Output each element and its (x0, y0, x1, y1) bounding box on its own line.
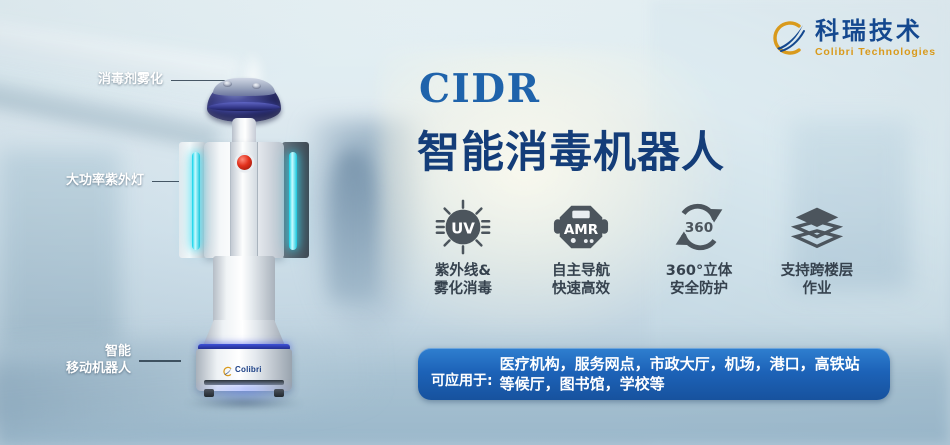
application-banner-line2: 等候厅，图书馆，学校等 (500, 374, 860, 394)
feature-item-multifloor: 支持跨楼层 作业 (758, 196, 876, 299)
feature-label-360-line1: 360°立体 (666, 263, 733, 281)
amr-robot-octagon-icon: AMR (552, 196, 610, 258)
robot-atomizer-nozzle (223, 81, 232, 87)
annotation-1-line1: 消毒剂雾化 (98, 72, 163, 89)
feature-list: UV 紫外线& 雾化消毒 AMR 自主导航 快速高效 (404, 196, 924, 299)
stacked-layers-icon (788, 196, 846, 258)
brand-logo: 科瑞技术 Colibri Technologies (768, 18, 936, 58)
feature-label-multifloor: 支持跨楼层 作业 (781, 263, 854, 299)
robot-emergency-stop-button[interactable] (237, 155, 252, 170)
application-banner-label: 可应用于: (431, 370, 493, 390)
feature-label-uv-line2: 雾化消毒 (434, 281, 492, 299)
feature-label-360-line2: 安全防护 (666, 281, 733, 299)
robot-head-light-band (208, 102, 280, 111)
feature-label-multifloor-line2: 作业 (781, 281, 854, 299)
annotation-smart-mobile-robot: 智能 移动机器人 (66, 344, 181, 378)
feature-item-360: 360 360°立体 安全防护 (640, 196, 758, 299)
annotation-2-text: 大功率紫外灯 (66, 173, 144, 190)
feature-label-uv: 紫外线& 雾化消毒 (434, 263, 492, 299)
feature-label-amr-line2: 快速高效 (552, 281, 610, 299)
360-rotation-arrows-icon: 360 (670, 196, 728, 258)
annotation-3-line2: 移动机器人 (66, 361, 131, 378)
robot-base-brand-text: Colibri (235, 365, 262, 374)
annotation-1-text: 消毒剂雾化 (98, 72, 163, 89)
colibri-c-swoosh-logo-icon (222, 364, 233, 375)
annotation-3-line1: 智能 (66, 344, 131, 361)
feature-label-amr: 自主导航 快速高效 (552, 263, 610, 299)
uv-icon-text: UV (451, 219, 475, 237)
feature-label-amr-line1: 自主导航 (552, 263, 610, 281)
disinfection-robot-image: Colibri (180, 78, 308, 408)
robot-floor-shadow (184, 396, 304, 410)
brand-logo-text: 科瑞技术 Colibri Technologies (815, 19, 936, 58)
brand-name-en: Colibri Technologies (815, 47, 936, 58)
feature-label-multifloor-line1: 支持跨楼层 (781, 263, 854, 281)
feature-label-360: 360°立体 安全防护 (666, 263, 733, 299)
application-banner-line1: 医疗机构，服务网点，市政大厅，机场，港口，高铁站 (500, 354, 860, 374)
robot-atomizer-nozzle (252, 83, 261, 89)
robot-uv-lamp-tube-left (192, 152, 200, 250)
colibri-c-swoosh-logo-icon (768, 18, 808, 58)
application-banner-value: 医疗机构，服务网点，市政大厅，机场，港口，高铁站 等候厅，图书馆，学校等 (500, 354, 860, 395)
uv-sun-icon: UV (434, 196, 492, 258)
robot-base-brand-badge: Colibri (222, 364, 262, 375)
application-banner: 可应用于: 医疗机构，服务网点，市政大厅，机场，港口，高铁站 等候厅，图书馆，学… (418, 348, 890, 400)
robot-waist (213, 256, 275, 328)
brand-name-cn: 科瑞技术 (815, 19, 936, 43)
feature-label-uv-line1: 紫外线& (434, 263, 492, 281)
feature-item-amr: AMR 自主导航 快速高效 (522, 196, 640, 299)
page-title-en: CIDR (419, 66, 541, 112)
feature-item-uv: UV 紫外线& 雾化消毒 (404, 196, 522, 299)
annotation-2-line1: 大功率紫外灯 (66, 173, 144, 190)
360-icon-text: 360 (685, 220, 713, 236)
page-title-cn: 智能消毒机器人 (417, 118, 725, 180)
annotation-3-leader-line (139, 360, 181, 362)
amr-icon-text: AMR (564, 222, 599, 238)
robot-uv-lamp-tube-right (289, 152, 297, 250)
robot-head-top-cap (213, 78, 275, 96)
annotation-3-text: 智能 移动机器人 (66, 344, 131, 378)
